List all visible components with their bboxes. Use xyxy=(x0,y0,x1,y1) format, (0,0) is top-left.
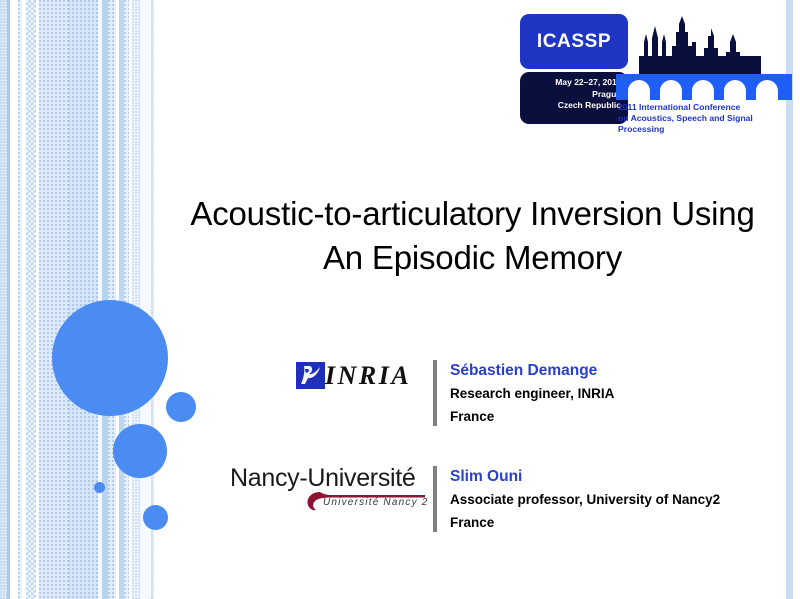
bubble-medium xyxy=(113,424,167,478)
author-divider-2 xyxy=(433,466,437,532)
stripe-09 xyxy=(68,0,98,599)
author-country-1: France xyxy=(450,405,614,428)
icassp-badge-label: ICASSP xyxy=(537,31,611,53)
nancy-universite-logo: Nancy-Université Université Nancy 2 xyxy=(228,464,433,530)
author-role-2: Associate professor, University of Nancy… xyxy=(450,488,720,511)
page-title: Acoustic-to-articulatory Inversion Using… xyxy=(150,192,795,280)
icassp-country: Czech Republic xyxy=(524,100,621,112)
author-entry-1: INRIA Sébastien Demange Research enginee… xyxy=(228,358,614,428)
bubble-small-upper-right xyxy=(166,392,196,422)
icassp-subtitle-line-1: 2011 International Conference xyxy=(618,102,798,113)
presentation-title-slide: ICASSP May 22–27, 2011 Prague Czech Repu… xyxy=(0,0,800,599)
inria-emblem-icon xyxy=(296,362,325,389)
inria-logo: INRIA xyxy=(228,358,433,424)
icassp-subtitle: 2011 International Conference on Acousti… xyxy=(618,102,798,135)
stripe-03 xyxy=(10,0,18,599)
author-info-1: Sébastien Demange Research engineer, INR… xyxy=(450,358,614,428)
bubble-tiny xyxy=(94,482,105,493)
bubble-large xyxy=(52,300,168,416)
stripe-06 xyxy=(26,0,36,599)
author-name-2: Slim Ouni xyxy=(450,465,720,488)
stripe-17 xyxy=(132,0,141,599)
icassp-city: Prague xyxy=(524,89,621,101)
author-entry-2: Nancy-Université Université Nancy 2 Slim… xyxy=(228,464,720,534)
title-line-1: Acoustic-to-articulatory Inversion Using xyxy=(150,192,795,236)
stripe-08 xyxy=(39,0,68,599)
author-name-1: Sébastien Demange xyxy=(450,359,614,382)
stripe-01 xyxy=(0,0,7,599)
author-country-2: France xyxy=(450,511,720,534)
title-line-2: An Episodic Memory xyxy=(150,236,795,280)
icassp-dates: May 22–27, 2011 xyxy=(524,77,621,89)
inria-wordmark: INRIA xyxy=(325,361,411,391)
author-role-1: Research engineer, INRIA xyxy=(450,382,614,405)
nancy-sub-wordmark: Université Nancy 2 xyxy=(323,497,429,508)
prague-bridge-icon xyxy=(616,74,792,100)
right-edge-white xyxy=(793,0,800,599)
icassp-subtitle-line-2: on Acoustics, Speech and Signal Processi… xyxy=(618,113,798,135)
author-divider-1 xyxy=(433,360,437,426)
author-info-2: Slim Ouni Associate professor, Universit… xyxy=(450,464,720,534)
icassp-date-box: May 22–27, 2011 Prague Czech Republic xyxy=(520,72,628,124)
icassp-conference-logo: ICASSP May 22–27, 2011 Prague Czech Repu… xyxy=(512,8,792,130)
bubble-small-lower xyxy=(143,505,168,530)
prague-castle-icon xyxy=(630,12,790,76)
icassp-badge: ICASSP xyxy=(520,14,628,69)
